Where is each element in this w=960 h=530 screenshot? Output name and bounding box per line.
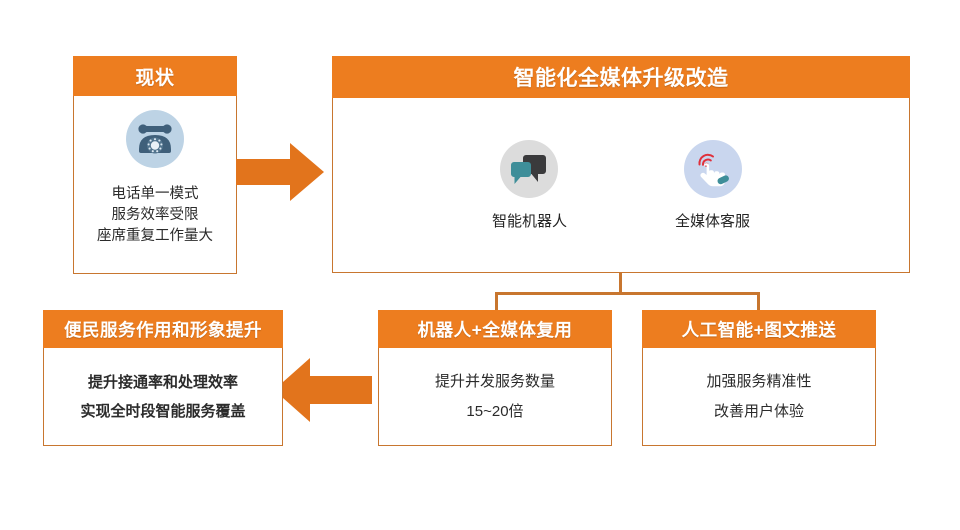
card-benefit-title: 便民服务作用和形象提升	[43, 310, 283, 348]
robot-line-2: 15~20倍	[466, 397, 523, 427]
card-current-state-body: 电话单一模式 服务效率受限 座席重复工作量大	[73, 96, 237, 274]
current-state-line-1: 电话单一模式	[97, 184, 213, 205]
card-robot-omnimedia: 机器人+全媒体复用 提升并发服务数量 15~20倍	[378, 310, 612, 446]
rotary-telephone-icon-wrap	[126, 110, 184, 168]
ai-line-2: 改善用户体验	[714, 397, 804, 427]
connector-drop-right	[757, 292, 760, 312]
card-main-upgrade: 智能化全媒体升级改造 智能机器人	[332, 56, 910, 273]
arrow-left-icon	[272, 356, 372, 429]
chat-bubbles-icon	[500, 140, 558, 198]
touch-hand-icon	[684, 140, 742, 198]
card-main-upgrade-body: 智能机器人 全媒体客服	[332, 98, 910, 273]
card-current-state-text: 电话单一模式 服务效率受限 座席重复工作量大	[97, 184, 213, 247]
feature-omnimedia-service: 全媒体客服	[675, 140, 750, 231]
card-main-upgrade-title: 智能化全媒体升级改造	[332, 56, 910, 98]
diagram-canvas: 现状	[0, 0, 960, 530]
card-benefit-body: 提升接通率和处理效率 实现全时段智能服务覆盖	[43, 348, 283, 446]
card-robot-omnimedia-title: 机器人+全媒体复用	[378, 310, 612, 348]
card-ai-push: 人工智能+图文推送 加强服务精准性 改善用户体验	[642, 310, 876, 446]
card-ai-push-body: 加强服务精准性 改善用户体验	[642, 348, 876, 446]
card-current-state-title: 现状	[73, 56, 237, 96]
current-state-line-3: 座席重复工作量大	[97, 226, 213, 247]
connector-drop-left	[495, 292, 498, 312]
card-ai-push-title: 人工智能+图文推送	[642, 310, 876, 348]
arrow-right-icon	[236, 141, 326, 208]
connector-stem	[619, 272, 622, 294]
robot-line-1: 提升并发服务数量	[435, 367, 555, 397]
current-state-line-2: 服务效率受限	[97, 205, 213, 226]
card-robot-omnimedia-body: 提升并发服务数量 15~20倍	[378, 348, 612, 446]
benefit-line-1: 提升接通率和处理效率	[88, 368, 238, 397]
card-current-state: 现状	[73, 56, 237, 274]
card-benefit: 便民服务作用和形象提升 提升接通率和处理效率 实现全时段智能服务覆盖	[43, 310, 283, 446]
connector-horizontal	[495, 292, 760, 295]
benefit-line-2: 实现全时段智能服务覆盖	[80, 397, 245, 426]
rotary-telephone-icon	[126, 110, 184, 168]
feature-intelligent-robot-label: 智能机器人	[492, 210, 567, 231]
feature-intelligent-robot: 智能机器人	[492, 140, 567, 231]
ai-line-1: 加强服务精准性	[706, 367, 811, 397]
feature-omnimedia-service-label: 全媒体客服	[675, 210, 750, 231]
